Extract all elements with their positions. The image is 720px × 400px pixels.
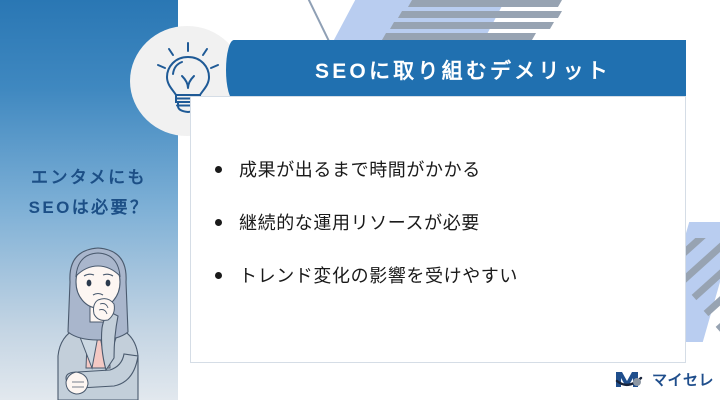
list-item: 継続的な運用リソースが必要 <box>209 212 665 234</box>
sidebar-heading-line-1: エンタメにも <box>0 163 178 193</box>
list-item-label: 継続的な運用リソースが必要 <box>239 213 480 233</box>
brand-logo: マイセレ <box>614 368 714 390</box>
list-item: トレンド変化の影響を受けやすい <box>209 265 665 287</box>
content-card: 成果が出るまで時間がかかる 継続的な運用リソースが必要 トレンド変化の影響を受け… <box>190 96 686 363</box>
slide-canvas: エンタメにも SEOは必要？ <box>0 0 720 400</box>
thinking-woman-illustration <box>22 236 172 400</box>
bullet-dot-icon <box>215 272 222 279</box>
list-item-label: 成果が出るまで時間がかかる <box>239 160 481 180</box>
bullet-dot-icon <box>215 166 222 173</box>
sidebar-heading-line-2: SEOは必要？ <box>0 193 178 223</box>
title-band-notch <box>226 40 242 100</box>
logo-text: マイセレ <box>652 369 714 390</box>
slide-title-band: SEOに取り組むデメリット <box>240 40 686 100</box>
list-item-label: トレンド変化の影響を受けやすい <box>239 266 518 286</box>
page-title: SEOに取り組むデメリット <box>315 55 611 85</box>
bullet-dot-icon <box>215 219 222 226</box>
m-swoosh-logo-icon <box>614 368 650 390</box>
top-right-stripes-decoration <box>392 0 572 42</box>
bullet-list: 成果が出るまで時間がかかる 継続的な運用リソースが必要 トレンド変化の影響を受け… <box>209 159 665 287</box>
sidebar-heading: エンタメにも SEOは必要？ <box>0 163 178 223</box>
list-item: 成果が出るまで時間がかかる <box>209 159 665 181</box>
top-right-diagonal-line-decoration <box>300 0 330 43</box>
